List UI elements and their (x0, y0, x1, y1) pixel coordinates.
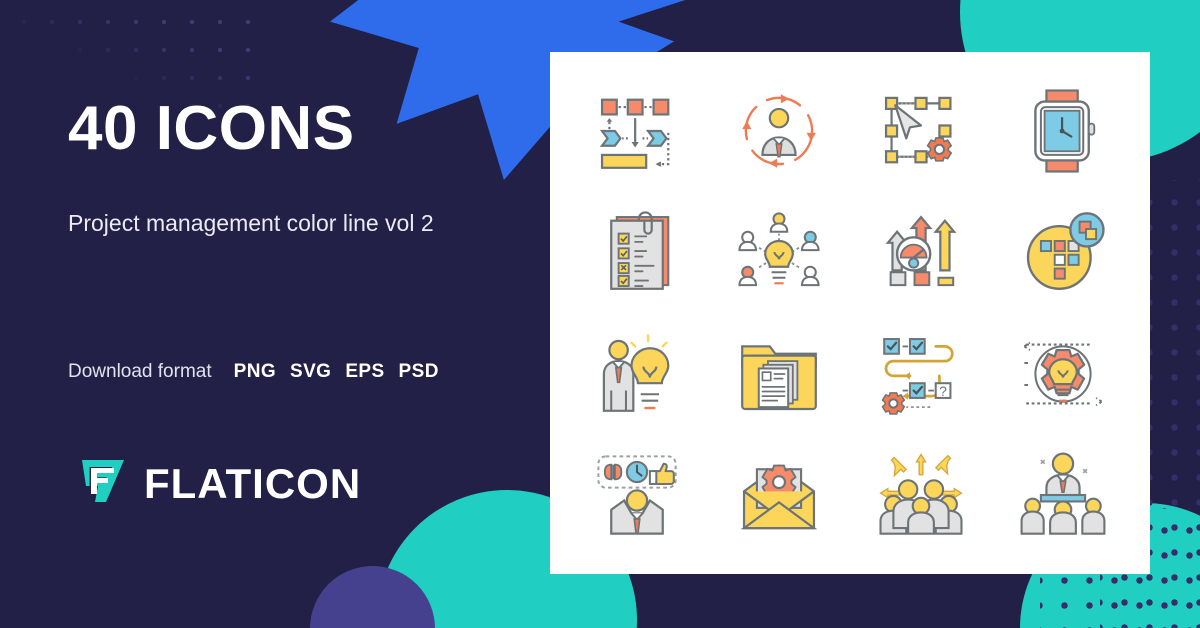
page-subtitle: Project management color line vol 2 (68, 205, 468, 242)
employee-lifecycle-icon[interactable] (708, 70, 850, 192)
task-process-flow-icon[interactable]: ? (850, 313, 992, 435)
icon-grid: ? (550, 52, 1150, 574)
format-png[interactable]: PNG (234, 361, 276, 383)
team-expansion-icon[interactable] (850, 435, 992, 557)
node-editor-cursor-gear-icon[interactable] (850, 70, 992, 192)
brainstorming-idea-icon[interactable] (708, 192, 850, 314)
brand-name: FLATICON (144, 463, 361, 505)
smartwatch-clock-icon[interactable] (992, 70, 1134, 192)
page-title: 40 ICONS (68, 98, 355, 160)
document-folder-icon[interactable] (708, 313, 850, 435)
businessman-idea-icon[interactable] (566, 313, 708, 435)
format-svg[interactable]: SVG (290, 361, 331, 383)
download-format-list: PNG SVG EPS PSD (234, 361, 439, 383)
svg-text:?: ? (939, 384, 947, 399)
poster-canvas: 40 ICONS Project management color line v… (0, 0, 1200, 628)
kanban-board-icon[interactable] (992, 192, 1134, 314)
presentation-audience-icon[interactable] (992, 435, 1134, 557)
workflow-diagram-icon[interactable] (566, 70, 708, 192)
download-format-row: Download format PNG SVG EPS PSD (68, 361, 439, 383)
format-psd[interactable]: PSD (399, 361, 439, 383)
brand-lockup: FLATICON (76, 456, 361, 511)
innovation-gear-bulb-icon[interactable] (992, 313, 1134, 435)
skills-assessment-icon[interactable] (566, 435, 708, 557)
performance-growth-icon[interactable] (850, 192, 992, 314)
download-format-label: Download format (68, 361, 212, 383)
info-panel: 40 ICONS Project management color line v… (68, 0, 538, 628)
checklist-clipboard-icon[interactable] (566, 192, 708, 314)
icon-preview-card: ? (550, 52, 1150, 574)
flaticon-logo-icon (76, 456, 130, 511)
mail-settings-icon[interactable] (708, 435, 850, 557)
format-eps[interactable]: EPS (345, 361, 384, 383)
